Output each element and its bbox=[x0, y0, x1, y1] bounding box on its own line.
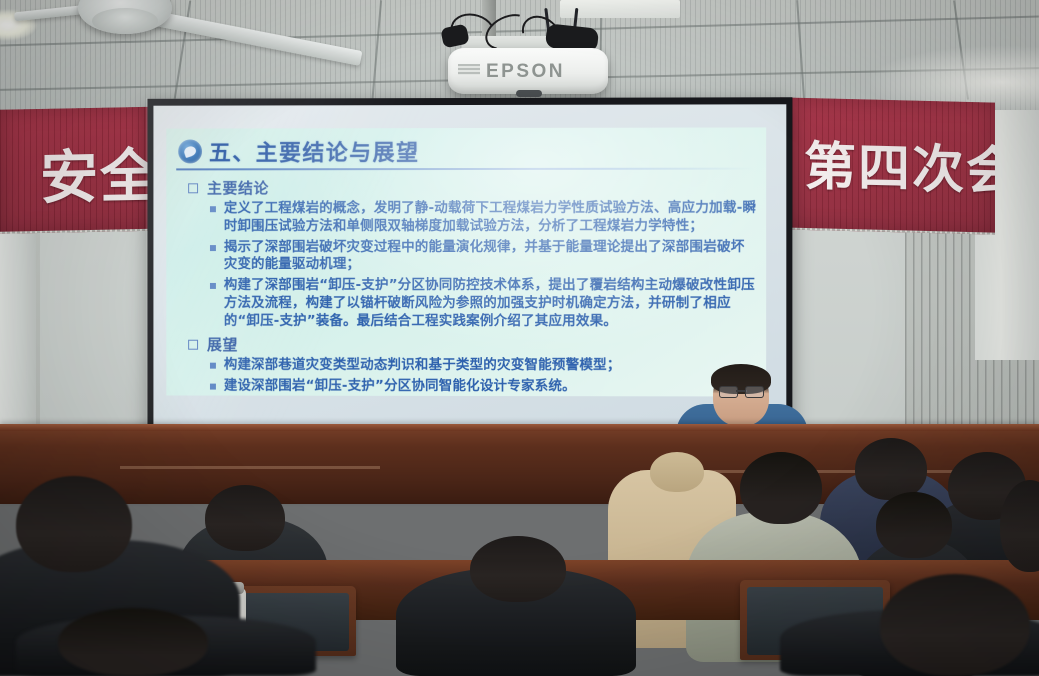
desk-molding bbox=[120, 466, 380, 469]
square-bullet-icon bbox=[210, 245, 216, 251]
slide-body: 主要结论 定义了工程煤岩的概念，发明了静-动载荷下工程煤岩力学性质试验方法、高应… bbox=[180, 174, 758, 397]
conference-room-photo: 安全科 第四次会议 EPSON 五、主要结论与展望 bbox=[0, 0, 1039, 676]
slide-bullet-text: 建设深部围岩“卸压-支护”分区协同智能化设计专家系统。 bbox=[224, 377, 576, 395]
audience-head bbox=[470, 536, 566, 602]
slide-bullet-text: 揭示了深部围岩破坏灾变过程中的能量演化规律，并基于能量理论提出了深部围岩破坏灾变… bbox=[224, 239, 758, 275]
presentation-slide: 五、主要结论与展望 主要结论 定义了工程煤岩的概念，发明了静-动载荷下工程煤岩力… bbox=[166, 127, 766, 396]
square-outline-bullet-icon bbox=[188, 339, 198, 349]
audience-head bbox=[740, 452, 822, 524]
title-divider bbox=[176, 168, 754, 171]
projector-brand-label: EPSON bbox=[486, 61, 565, 83]
slide-title: 五、主要结论与展望 bbox=[209, 135, 420, 167]
square-bullet-icon bbox=[210, 206, 216, 212]
audience-head bbox=[880, 574, 1030, 676]
glasses-icon bbox=[719, 386, 764, 396]
slide-bullet-text: 定义了工程煤岩的概念，发明了静-动载荷下工程煤岩力学性质试验方法、高应力加载-瞬… bbox=[224, 200, 758, 236]
square-bullet-icon bbox=[210, 362, 216, 368]
banner-right-text: 第四次会议 bbox=[804, 124, 995, 206]
slide-bullet: 构建了深部围岩“卸压-支护”分区协同防控技术体系，提出了覆岩结构主动爆破改性卸压… bbox=[210, 277, 758, 331]
audience-head bbox=[876, 492, 952, 558]
slide-section-heading: 展望 bbox=[188, 333, 758, 355]
desk-edge bbox=[0, 424, 1039, 431]
projector-lens bbox=[516, 90, 542, 97]
square-bullet-icon bbox=[210, 283, 216, 289]
slide-header: 五、主要结论与展望 bbox=[178, 133, 756, 168]
projector: EPSON bbox=[424, 0, 624, 108]
square-bullet-icon bbox=[210, 383, 216, 389]
slide-section-heading-text: 展望 bbox=[207, 333, 238, 354]
slide-bullet: 建设深部围岩“卸压-支护”分区协同智能化设计专家系统。 bbox=[210, 377, 758, 396]
screen-surface: 五、主要结论与展望 主要结论 定义了工程煤岩的概念，发明了静-动载荷下工程煤岩力… bbox=[153, 104, 786, 436]
slide-section-heading: 主要结论 bbox=[188, 177, 758, 199]
audience-head bbox=[205, 485, 285, 551]
banner-right: 第四次会议 bbox=[780, 97, 995, 234]
slide-section-heading-text: 主要结论 bbox=[207, 177, 269, 198]
slide-bullet-text: 构建了深部围岩“卸压-支护”分区协同防控技术体系，提出了覆岩结构主动爆破改性卸压… bbox=[224, 277, 758, 331]
slide-bullet: 定义了工程煤岩的概念，发明了静-动载荷下工程煤岩力学性质试验方法、高应力加载-瞬… bbox=[210, 200, 758, 236]
audience-head bbox=[58, 608, 208, 676]
slide-bullet: 构建深部巷道灾变类型动态判识和基于类型的灾变智能预警模型； bbox=[210, 356, 758, 375]
slide-bullet-text: 构建深部巷道灾变类型动态判识和基于类型的灾变智能预警模型； bbox=[224, 356, 621, 374]
projector-vent-icon bbox=[458, 64, 480, 75]
ceiling-fan-hub bbox=[92, 8, 158, 34]
audience-head bbox=[855, 438, 927, 500]
blue-circle-logo-icon bbox=[178, 139, 202, 163]
projection-screen: 五、主要结论与展望 主要结论 定义了工程煤岩的概念，发明了静-动载荷下工程煤岩力… bbox=[147, 97, 792, 443]
slide-bullet: 揭示了深部围岩破坏灾变过程中的能量演化规律，并基于能量理论提出了深部围岩破坏灾变… bbox=[210, 239, 758, 275]
audience-head bbox=[16, 476, 132, 572]
audience-hood bbox=[650, 452, 704, 492]
square-outline-bullet-icon bbox=[188, 183, 198, 193]
